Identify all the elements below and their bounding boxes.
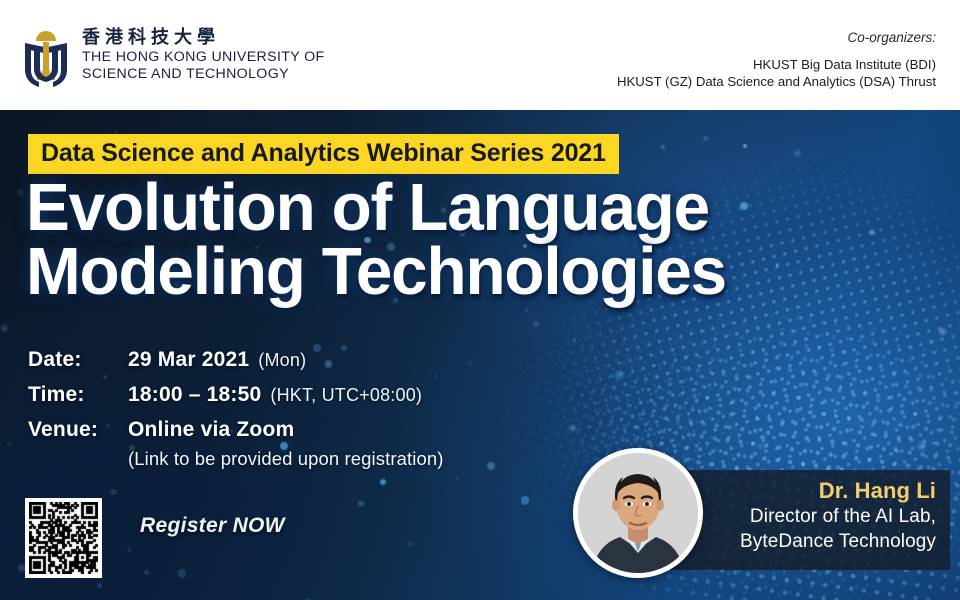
coorganizers-block: Co-organizers: HKUST Big Data Institute … — [617, 28, 936, 90]
webinar-poster: 香港科技大學 THE HONG KONG UNIVERSITY OF SCIEN… — [0, 0, 960, 600]
title-line-2: Modeling Technologies — [26, 240, 726, 304]
hkust-logo-block: 香港科技大學 THE HONG KONG UNIVERSITY OF SCIEN… — [22, 26, 325, 88]
speaker-name: Dr. Hang Li — [740, 477, 936, 504]
detail-value-time: 18:00 – 18:50 — [128, 383, 261, 407]
detail-value-venue: Online via Zoom — [128, 418, 294, 442]
speaker-role-line-1: Director of the AI Lab, — [740, 504, 936, 529]
coorganizer-item: HKUST (GZ) Data Science and Analytics (D… — [617, 73, 936, 90]
coorganizers-label: Co-organizers: — [617, 28, 936, 48]
detail-venue-subnote: (Link to be provided upon registration) — [128, 448, 444, 470]
register-now-cta[interactable]: Register NOW — [140, 514, 285, 538]
hkust-logo-chinese: 香港科技大學 — [82, 27, 325, 49]
qr-code-icon[interactable] — [25, 498, 102, 578]
title-line-1: Evolution of Language — [26, 176, 726, 240]
detail-label-time: Time: — [28, 383, 128, 407]
page-title: Evolution of Language Modeling Technolog… — [26, 176, 740, 304]
poster-header: 香港科技大學 THE HONG KONG UNIVERSITY OF SCIEN… — [0, 0, 960, 110]
qr-code-canvas — [29, 502, 98, 574]
detail-value-date: 29 Mar 2021 — [128, 348, 249, 372]
series-banner-text: Data Science and Analytics Webinar Serie… — [41, 139, 606, 167]
detail-row-venue: Venue: Online via Zoom — [28, 418, 444, 442]
hkust-shield-logo-icon — [22, 26, 70, 88]
detail-row-time: Time: 18:00 – 18:50 (HKT, UTC+08:00) — [28, 383, 444, 407]
series-banner: Data Science and Analytics Webinar Serie… — [28, 134, 619, 174]
hkust-logo-text: 香港科技大學 THE HONG KONG UNIVERSITY OF SCIEN… — [82, 26, 325, 83]
coorganizer-item: HKUST Big Data Institute (BDI) — [617, 56, 936, 73]
speaker-role-line-2: ByteDance Technology — [740, 529, 936, 554]
event-details: Date: 29 Mar 2021 (Mon) Time: 18:00 – 18… — [28, 348, 444, 470]
speaker-portrait-icon — [578, 453, 698, 573]
speaker-text-block: Dr. Hang Li Director of the AI Lab, Byte… — [740, 477, 936, 554]
hkust-logo-english-line1: THE HONG KONG UNIVERSITY OF — [82, 49, 325, 66]
avatar — [573, 448, 703, 578]
detail-label-date: Date: — [28, 348, 128, 372]
detail-label-venue: Venue: — [28, 418, 128, 442]
detail-row-date: Date: 29 Mar 2021 (Mon) — [28, 348, 444, 372]
hkust-logo-english-line2: SCIENCE AND TECHNOLOGY — [82, 66, 325, 83]
detail-note-date: (Mon) — [258, 350, 306, 371]
detail-note-time: (HKT, UTC+08:00) — [270, 385, 422, 406]
